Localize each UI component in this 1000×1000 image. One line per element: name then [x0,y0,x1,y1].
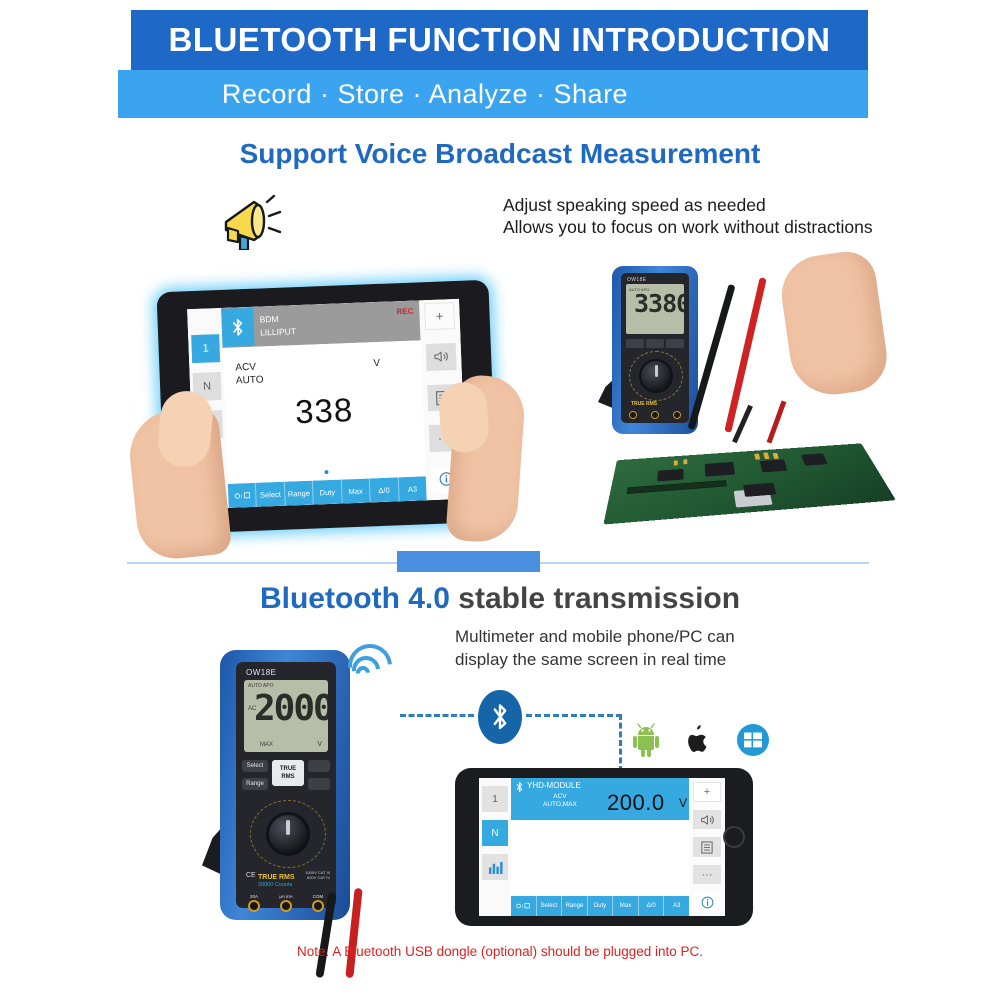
toolbar-max-button[interactable]: Max [341,478,370,503]
voice-feature-text: Adjust speaking speed as needed Allows y… [503,194,873,238]
tablet-screen: 1 N BDM LILLIPUT [187,299,466,509]
phone-app-toolbar: / Select Range Duty Max Δ/0 A3 [511,896,689,916]
toolbar-range-button[interactable]: Range [562,896,588,916]
port-ua-ma-label: μA mA [279,894,292,899]
backlight-button[interactable] [308,760,330,772]
n-square-icon[interactable]: N [482,820,508,846]
multimeter-model-label: OW18E [627,277,647,283]
ce-mark: CE [246,872,256,879]
svg-text:/: / [522,904,524,909]
multimeter-button-row[interactable] [626,339,684,348]
phone-mode-block: ACV AUTO,MAX [543,793,577,809]
section-divider-badge [397,551,540,572]
banner-subtitle-bar: Record · Store · Analyze · Share [118,70,732,118]
tablet-readout: ACV AUTO V 338 [223,340,426,484]
bluetooth-sub-line-1: Multimeter and mobile phone/PC can [455,625,815,648]
multimeter-ports [629,411,681,419]
toolbar-select-button[interactable]: Select [537,896,563,916]
connector-dashed-left [400,714,474,717]
bluetooth-heading-blue: Bluetooth 4.0 [260,582,450,615]
multimeter-ports: 20A μA mA COM [248,894,324,912]
true-rms-button[interactable]: TRUE RMS [272,760,304,786]
pcb-chip [743,483,776,497]
bluetooth-heading-gray: stable transmission [458,582,740,615]
voice-feature-block: Adjust speaking speed as needed Allows y… [218,192,778,252]
speaker-icon[interactable] [693,810,721,830]
speaker-icon[interactable] [426,343,457,371]
rotary-dial[interactable] [266,812,310,856]
multimeter-bottom-scene: OW18E AUTO APO AC 2000 MAX V Select Rang… [210,640,430,980]
bluetooth-icon[interactable] [221,308,254,347]
frame-one-icon[interactable]: 1 [191,334,220,363]
apple-icon [684,723,714,762]
record-badge: REC [396,307,413,317]
phone-home-button[interactable] [723,826,745,848]
phone-photo-scene: 1 N YHD-MODULE ACV AUTO,MAX [455,768,775,938]
toolbar-relative-zero-button[interactable]: Δ/0 [639,896,665,916]
tablet-photo-scene: 1 N BDM LILLIPUT [133,268,513,558]
phone-device: 1 N YHD-MODULE ACV AUTO,MAX [455,768,753,926]
multimeter-lcd: AUTO APO AC 2000 MAX V [244,680,328,752]
toolbar-a3-button[interactable]: A3 [398,476,426,501]
tablet-readout-mode: ACV AUTO [235,360,264,387]
toolbar-select-button[interactable]: Select [256,482,285,507]
pcb-chip [760,459,788,472]
true-rms-button-line-2: RMS [281,773,294,781]
phone-value: 200.0 [607,790,665,816]
os-compatibility-icons [630,718,770,766]
multimeter-face: OW18E AUTO APO 3380 TRUE RMS [621,273,689,423]
cat-rating-label: 1000V CAT III 600V CAT IV [305,870,330,880]
page-indicator-dot [324,470,328,474]
bluetooth-icon [515,781,524,796]
pcb-pin [674,460,678,465]
plus-icon[interactable]: + [424,302,455,330]
phone-app-left-rail: 1 N [479,778,511,916]
toolbar-backlight-button[interactable]: / [511,896,537,916]
hand-holding-probes [777,248,892,400]
multimeter-model-label: OW18E [246,668,277,677]
multimeter-face: OW18E AUTO APO AC 2000 MAX V Select Rang… [236,662,336,908]
counts-label: 20000 Counts [258,882,292,888]
toolbar-a3-button[interactable]: A3 [664,896,689,916]
product-infographic-page: BLUETOOTH FUNCTION INTRODUCTION Record ·… [0,0,1000,1000]
more-dots-icon[interactable]: ··· [693,865,721,885]
toolbar-relative-zero-button[interactable]: Δ/0 [370,477,399,502]
cat-rating-line-2: 600V CAT IV [305,875,330,880]
lcd-unit-label: V [317,741,322,748]
port-ua-ma[interactable]: μA mA [279,894,292,912]
toolbar-range-button[interactable]: Range [285,481,314,506]
hold-button[interactable] [308,778,330,790]
voice-section-heading: Support Voice Broadcast Measurement [0,138,1000,170]
select-button[interactable]: Select [242,760,268,772]
phone-app-right-rail: + ··· [689,778,725,916]
banner-subtitle: Record · Store · Analyze · Share [222,79,628,110]
pcb-chip [801,453,828,465]
pcb-pin [763,452,769,459]
phone-device-name: YHD-MODULE [527,781,581,790]
windows-icon [736,723,770,762]
list-icon[interactable] [693,837,721,857]
frame-one-icon[interactable]: 1 [482,786,508,812]
tablet-range-label: AUTO [236,373,264,387]
right-hand [445,374,526,544]
bar-chart-icon[interactable] [482,854,508,880]
megaphone-icon [218,192,294,250]
tablet-value: 338 [224,388,423,434]
lcd-value: 2000 [254,688,328,729]
voice-bullet-2: Allows you to focus on work without dist… [503,216,873,238]
tablet-device-names: BDM LILLIPUT [259,312,296,339]
lcd-value: 3380 [634,289,684,318]
banner-title-bar: BLUETOOTH FUNCTION INTRODUCTION [131,10,868,70]
tablet-app-main: BDM LILLIPUT REC ACV AUTO V 338 [221,300,427,507]
phone-app-body [511,820,689,896]
toolbar-duty-button[interactable]: Duty [313,479,342,504]
port-com[interactable]: COM [312,894,324,912]
bluetooth-section-subtext: Multimeter and mobile phone/PC can displ… [455,625,815,671]
info-icon[interactable] [693,892,721,912]
toolbar-duty-button[interactable]: Duty [588,896,614,916]
pcb-pin [773,453,779,459]
wifi-waves-icon [352,632,412,688]
port-com-label: COM [312,894,324,899]
phone-unit-label: V [679,796,687,810]
toolbar-max-button[interactable]: Max [613,896,639,916]
meter-probe-photo-scene: OW18E AUTO APO 3380 TRUE RMS [590,262,890,562]
true-rms-label: TRUE RMS [631,401,657,407]
range-button[interactable]: Range [242,778,268,790]
true-rms-footer-label: TRUE RMS [258,874,295,881]
tablet-device-name-2: LILLIPUT [260,325,296,339]
phone-screen: 1 N YHD-MODULE ACV AUTO,MAX [479,778,725,916]
multimeter-bottom: OW18E AUTO APO AC 2000 MAX V Select Rang… [220,650,350,920]
probe-tip-red [767,400,787,443]
footer-note: Note: A Bluetooth USB dongle (optional) … [0,944,1000,959]
true-rms-button-line-1: TRUE [280,765,296,773]
port-20a[interactable]: 20A [248,894,260,912]
toolbar-backlight-button[interactable]: / [228,483,257,508]
svg-text:/: / [241,493,243,499]
multimeter-top: OW18E AUTO APO 3380 TRUE RMS [612,266,698,434]
page-title: BLUETOOTH FUNCTION INTRODUCTION [168,21,830,59]
connector-dashed-right [526,714,622,717]
tablet-unit-label: V [373,358,380,369]
left-hand [126,406,233,563]
pcb-slot [627,480,727,494]
pcb-chip [705,462,736,477]
banner-subtitle-bar-extension [732,70,868,118]
bluetooth-icon [478,690,522,744]
plus-icon[interactable]: + [693,782,721,802]
tablet-mode-label: ACV [235,360,263,374]
voice-bullet-1: Adjust speaking speed as needed [503,194,873,216]
phone-app-header: YHD-MODULE ACV AUTO,MAX 200.0 V [511,778,689,820]
port-20a-label: 20A [248,894,260,899]
phone-range-label: AUTO,MAX [543,801,577,809]
multimeter-lcd: AUTO APO 3380 [626,284,684,334]
android-icon [630,723,662,762]
pcb-pin [754,454,760,460]
pcb-pin [683,459,687,464]
bluetooth-section-heading: Bluetooth 4.0 stable transmission [0,582,1000,616]
lcd-max-label: MAX [260,742,273,748]
bluetooth-hub [478,690,522,746]
phone-mode-label: ACV [543,793,577,801]
bluetooth-sub-line-2: display the same screen in real time [455,648,815,671]
phone-app-main: YHD-MODULE ACV AUTO,MAX 200.0 V / Sel [511,778,689,916]
tablet-app: 1 N BDM LILLIPUT [187,299,466,509]
rotary-dial[interactable] [639,359,673,393]
circuit-board [603,443,896,524]
pcb-chip [657,469,683,482]
